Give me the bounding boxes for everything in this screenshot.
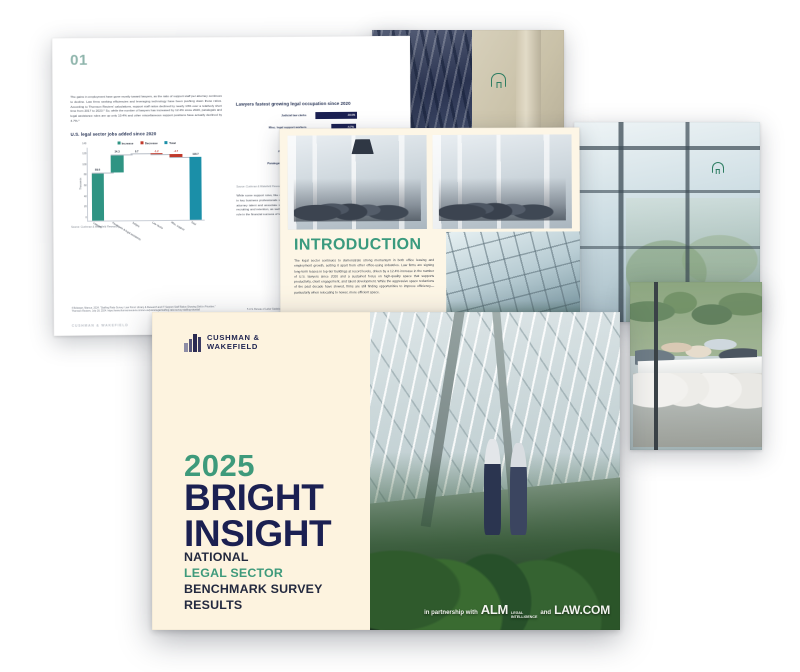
- hbar-category-label: Judicial law clerks: [236, 113, 310, 118]
- hbar-fill: [315, 111, 345, 118]
- cover-title-line-1: BRIGHT: [184, 480, 331, 516]
- waterfall-bar-value: -4.7: [174, 150, 178, 153]
- building-icon: [184, 334, 201, 352]
- waterfall-chart-title: U.S. legal sector jobs added since 2020: [71, 130, 223, 136]
- pendant-lamp-detail: [351, 139, 373, 154]
- waterfall-bar: [189, 157, 202, 220]
- report-cover: CUSHMAN & WAKEFIELD 2025 BRIGHT INSIGHT …: [152, 312, 620, 630]
- left-column-body-text: The gains in employment have gone mostly…: [70, 94, 222, 124]
- partnership-credit: in partnership with ALM LEGAL INTELLIGEN…: [424, 602, 610, 620]
- legend-decrease: Decrease: [145, 141, 158, 145]
- chairs-detail: [633, 373, 762, 447]
- waterfall-bar: [111, 155, 123, 173]
- cushman-wakefield-logo: CUSHMAN & WAKEFIELD: [184, 334, 370, 352]
- partnership-conjunction: and: [540, 610, 551, 616]
- partnership-prefix: in partnership with: [424, 610, 478, 616]
- conservatory-walkway-photo: in partnership with ALM LEGAL INTELLIGEN…: [370, 312, 620, 630]
- logo-line-2: WAKEFIELD: [207, 343, 260, 352]
- report-left-column: The gains in employment have gone mostly…: [70, 94, 222, 229]
- waterfall-y-tick: 120: [82, 152, 86, 155]
- waterfall-y-tick: 40: [84, 195, 87, 198]
- waterfall-y-tick: 100: [82, 163, 86, 166]
- column-detail: [516, 30, 541, 142]
- office-standing-meeting-photo: [433, 134, 572, 229]
- waterfall-bar-value: -1.2: [154, 150, 158, 153]
- waterfall-y-tick: 140: [82, 142, 86, 145]
- hbar-value-label: -10.0%: [345, 111, 357, 118]
- waterfall-y-tick: 0: [85, 216, 86, 219]
- office-collaboration-photo: [288, 135, 427, 230]
- intro-photo-strip: [288, 134, 572, 229]
- cover-title-line-2: INSIGHT: [184, 516, 331, 552]
- waterfall-bar-value: 0.7: [135, 150, 139, 153]
- cover-subtitle-line-1: NATIONAL: [184, 550, 323, 566]
- arch-home-icon: [491, 73, 506, 87]
- hbar-row: Judicial law clerks-10.0%: [236, 109, 387, 122]
- introduction-title: INTRODUCTION: [294, 236, 422, 255]
- logo-wordmark: CUSHMAN & WAKEFIELD: [207, 334, 260, 352]
- page-footer-brand: CUSHMAN & WAKEFIELD: [72, 323, 129, 328]
- meeting-room-photo: [630, 282, 762, 450]
- cover-subtitle-line-4: RESULTS: [184, 598, 323, 614]
- waterfall-chart: Increase Decrease Total Thousands 020406…: [71, 140, 223, 221]
- section-number: 01: [70, 50, 394, 69]
- cover-title: BRIGHT INSIGHT: [184, 480, 331, 551]
- glass-partition-detail: [654, 282, 659, 450]
- waterfall-y-tick: 20: [84, 205, 87, 208]
- alm-sub-line-2: INTELLIGENCE: [511, 615, 537, 619]
- cover-subtitle-line-3: BENCHMARK SURVEY: [184, 582, 323, 598]
- waterfall-chart-legend: Increase Decrease Total: [71, 140, 223, 145]
- waterfall-bar-value: 118.7: [192, 153, 198, 156]
- waterfall-y-tick: 80: [84, 174, 87, 177]
- hbar-chart-title: Lawyers fastest growing legal occupation…: [236, 101, 387, 107]
- waterfall-bar-value: 89.6: [95, 169, 100, 172]
- cover-subtitle-line-2: LEGAL SECTOR: [184, 566, 323, 582]
- alm-logo: ALM: [481, 602, 508, 617]
- legend-total: Total: [169, 141, 176, 145]
- waterfall-bar: [92, 173, 104, 220]
- arch-home-icon: [712, 162, 724, 173]
- waterfall-bar-value: 34.3: [115, 151, 120, 154]
- waterfall-y-axis-label: Thousands: [79, 178, 82, 190]
- alm-logo-subtitle: LEGAL INTELLIGENCE: [511, 612, 537, 620]
- waterfall-plot-area: Thousands 02040608010012014089.6Lawyers3…: [87, 147, 205, 222]
- introduction-body-text: The legal sector continues to demonstrat…: [294, 258, 434, 295]
- cover-subtitle: NATIONAL LEGAL SECTOR BENCHMARK SURVEY R…: [184, 550, 323, 614]
- legend-increase: Increase: [122, 141, 134, 145]
- report-mockup-composition: 01 The gains in employment have gone mos…: [0, 0, 800, 672]
- two-people-detail: [480, 439, 545, 534]
- waterfall-y-tick: 60: [84, 184, 87, 187]
- hbar-track: -10.0%: [309, 111, 386, 119]
- lawcom-logo: LAW.COM: [554, 603, 610, 617]
